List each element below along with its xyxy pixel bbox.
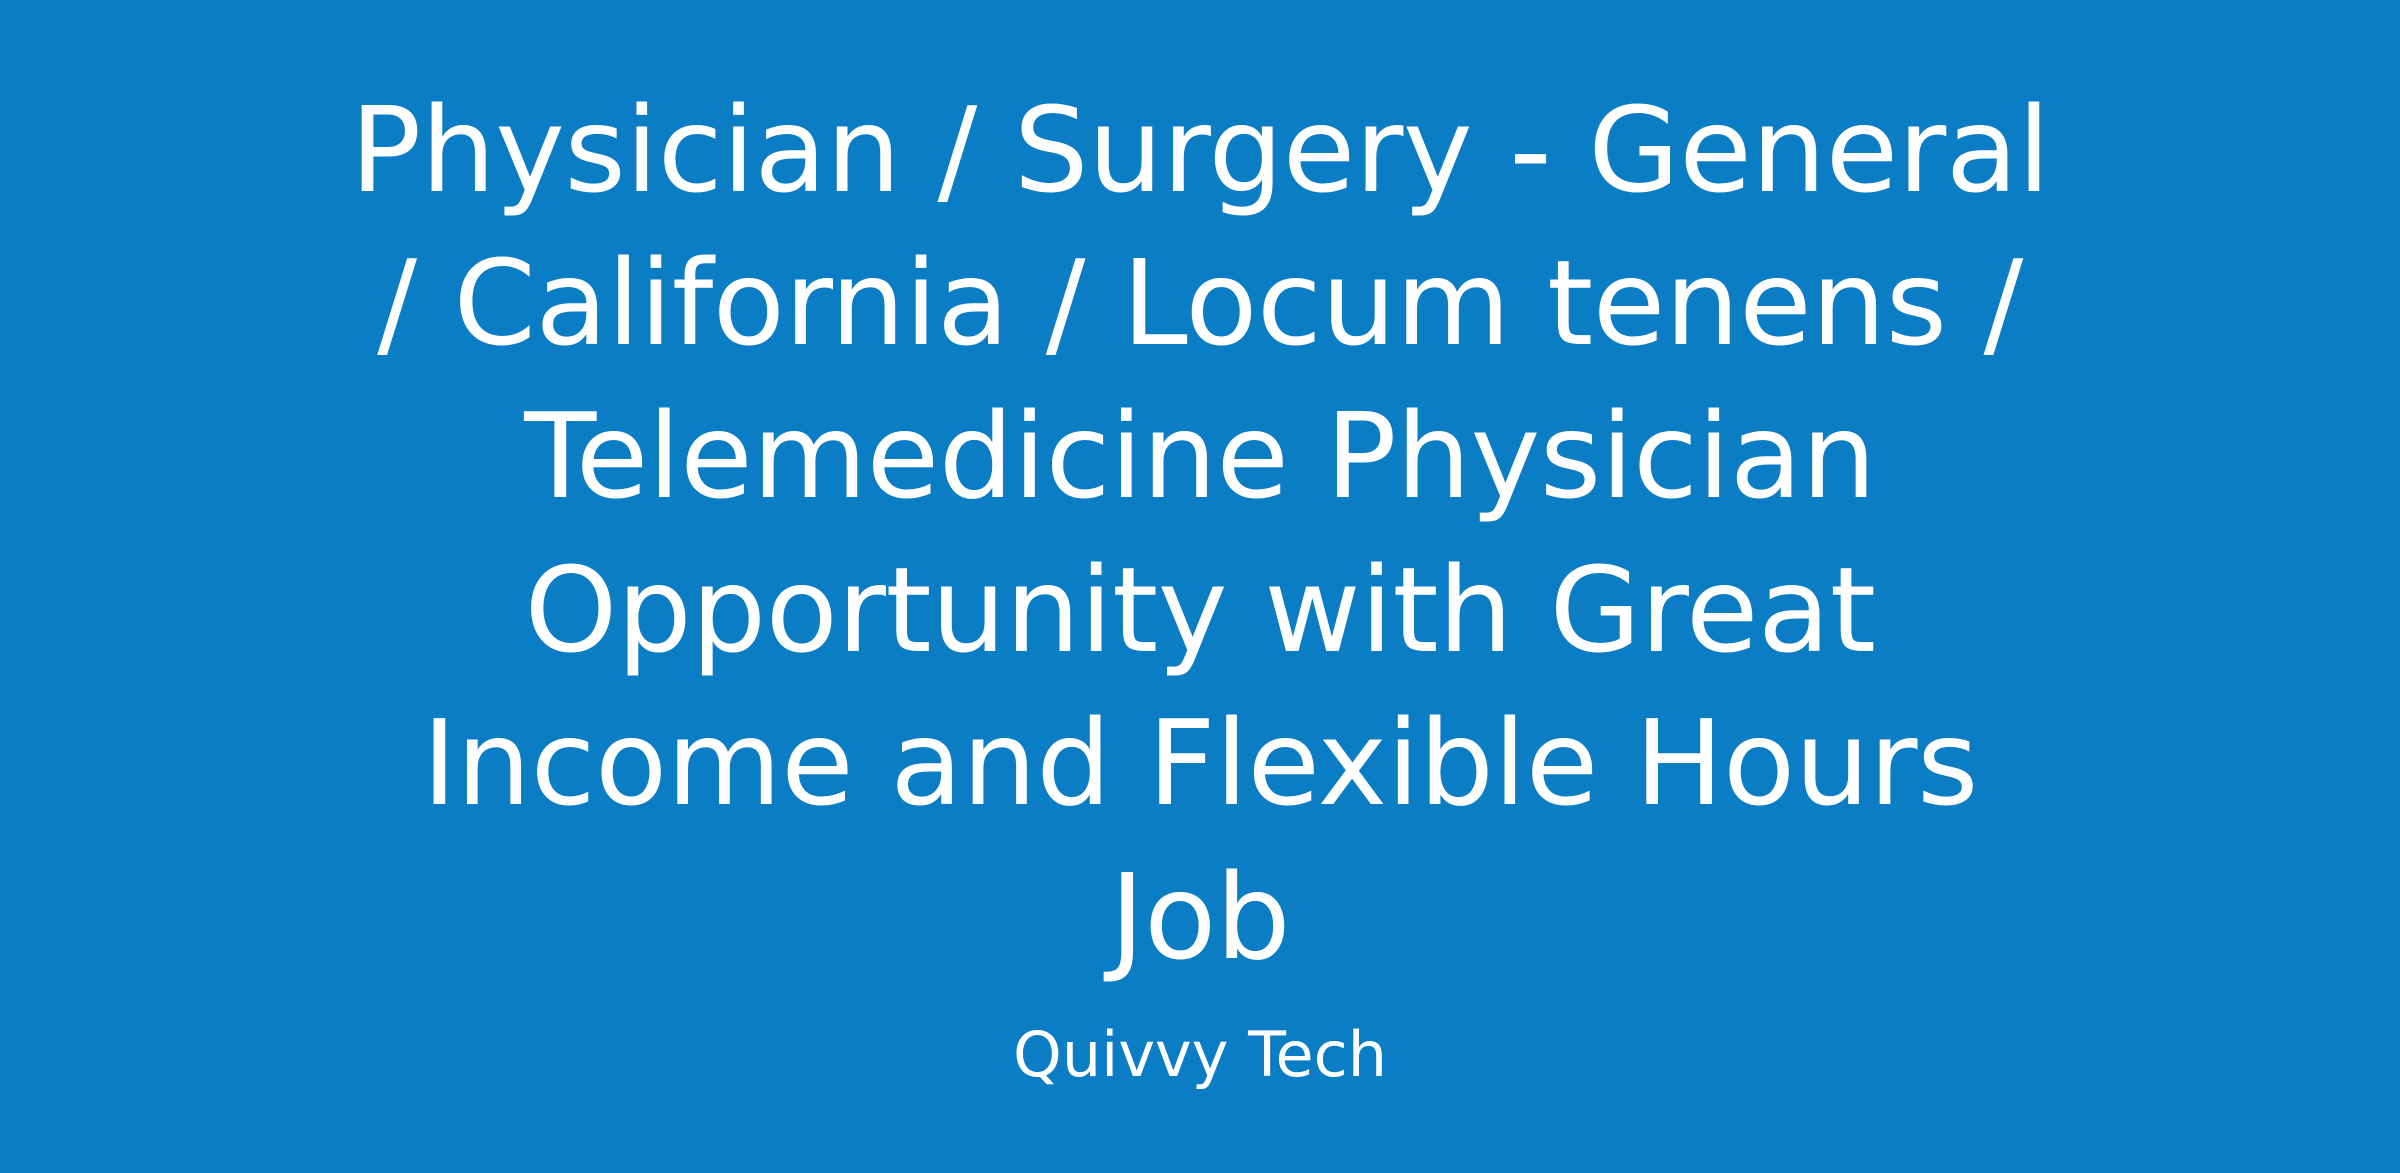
- page-title: Physician / Surgery - General / Californ…: [335, 74, 2065, 994]
- job-posting-card: Physician / Surgery - General / Californ…: [0, 0, 2400, 1173]
- company-name: Quivvy Tech: [1013, 1016, 1387, 1094]
- card-text-block: Physician / Surgery - General / Californ…: [335, 74, 2065, 1094]
